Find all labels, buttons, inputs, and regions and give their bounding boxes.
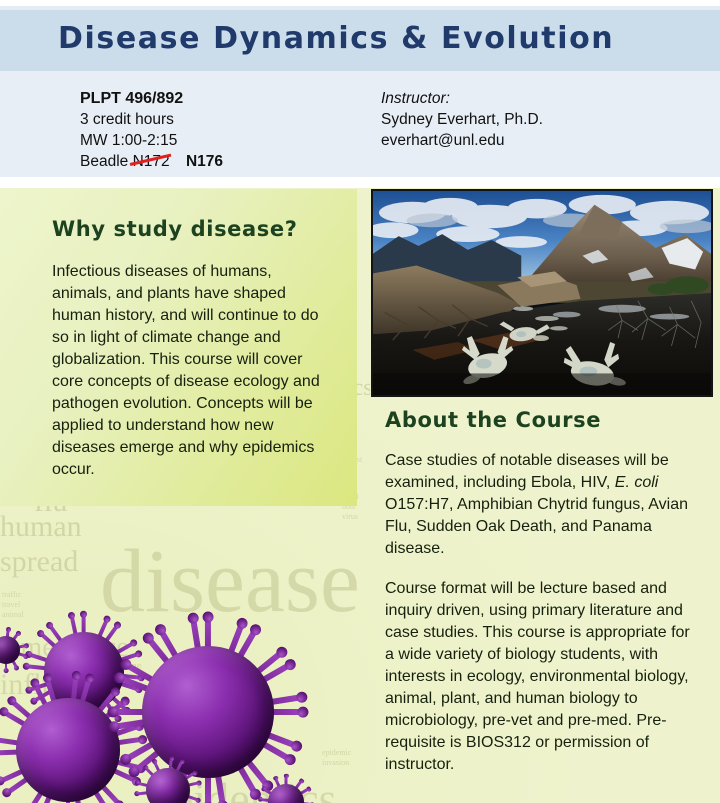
about-the-course-section: About the Course Case studies of notable… xyxy=(385,408,703,794)
instructor-block: Instructor: Sydney Everhart, Ph.D. everh… xyxy=(381,88,543,151)
course-code: PLPT 496/892 xyxy=(80,88,223,109)
virus-particle xyxy=(16,698,120,802)
instructor-label: Instructor: xyxy=(381,88,543,109)
course-room-line: Beadle N172 N176 xyxy=(80,151,223,172)
course-info-band: PLPT 496/892 3 credit hours MW 1:00-2:15… xyxy=(0,71,720,177)
about-course-paragraph-2: Course format will be lecture based and … xyxy=(385,578,703,776)
virus-particle xyxy=(142,646,274,778)
room-building: Beadle xyxy=(80,153,128,170)
page-title: Disease Dynamics & Evolution xyxy=(58,21,614,56)
why-study-heading: Why study disease? xyxy=(0,189,357,241)
course-credits: 3 credit hours xyxy=(80,109,223,130)
title-band-top-edge xyxy=(0,6,720,10)
why-study-disease-panel: Why study disease? Infectious diseases o… xyxy=(0,189,357,506)
photo-illustration xyxy=(373,191,711,395)
virus-capsid xyxy=(16,698,120,802)
virus-capsid xyxy=(142,646,274,778)
frog-dieoff-photo xyxy=(371,189,713,397)
virus-particle xyxy=(0,636,20,664)
instructor-email[interactable]: everhart@unl.edu xyxy=(381,130,543,151)
instructor-name: Sydney Everhart, Ph.D. xyxy=(381,109,543,130)
about-p1-species-italic: E. coli xyxy=(615,474,659,491)
room-old-crossed-out: N172 xyxy=(133,151,170,172)
course-flyer: Disease Dynamics & Evolution PLPT 496/89… xyxy=(0,0,720,803)
why-study-body: Infectious diseases of humans, animals, … xyxy=(0,241,357,481)
header-divider-gap xyxy=(0,177,720,188)
about-p1-post: O157:H7, Amphibian Chytrid fungus, Avian… xyxy=(385,496,688,557)
title-band: Disease Dynamics & Evolution xyxy=(0,6,720,71)
virus-particle xyxy=(146,768,190,803)
virus-particle xyxy=(268,784,304,803)
about-course-paragraph-1: Case studies of notable diseases will be… xyxy=(385,450,703,560)
course-meeting-time: MW 1:00-2:15 xyxy=(80,130,223,151)
about-course-heading: About the Course xyxy=(385,408,703,432)
course-details-block: PLPT 496/892 3 credit hours MW 1:00-2:15… xyxy=(80,88,223,172)
room-new-label: N176 xyxy=(186,153,223,170)
